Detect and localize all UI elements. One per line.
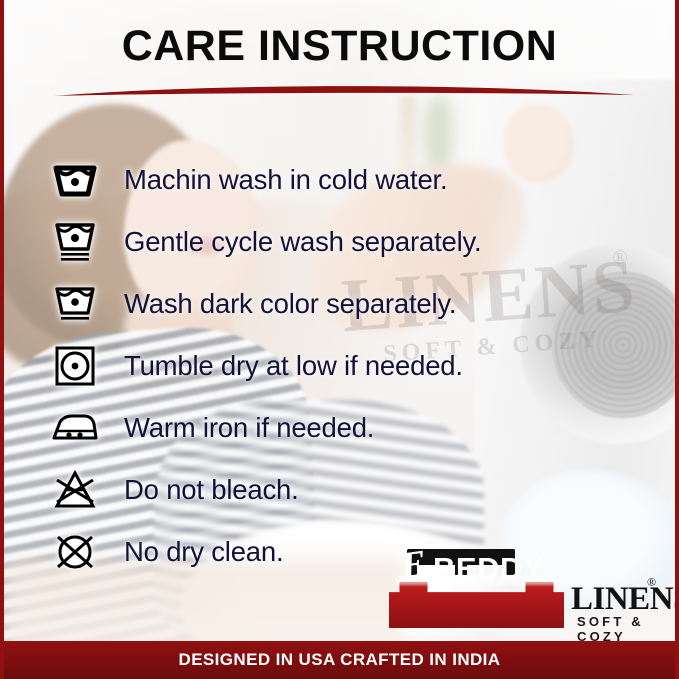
iron-two-dots-icon [46, 402, 104, 454]
instruction-text: Gentle cycle wash separately. [124, 226, 481, 258]
instruction-row: Do not bleach. [46, 460, 646, 520]
instruction-row: Wash dark color separately. [46, 274, 646, 334]
title-divider [54, 82, 634, 100]
instruction-list: Machin wash in cold water. Gentle cycle … [46, 150, 646, 584]
wash-tub-one-dot-two-bars-icon [46, 216, 104, 268]
logo-brand-text: BEDDY [433, 551, 544, 587]
footer-bar: DESIGNED IN USA CRAFTED IN INDIA [4, 641, 675, 679]
care-instruction-card: LINENS SOFT & COZY ® CARE INSTRUCTION Ma… [0, 0, 679, 679]
instruction-text: Do not bleach. [124, 474, 299, 506]
instruction-text: Tumble dry at low if needed. [124, 350, 463, 382]
instruction-row: Tumble dry at low if needed. [46, 336, 646, 396]
beddy-banner [389, 582, 564, 628]
instruction-row: Warm iron if needed. [46, 398, 646, 458]
instruction-row: Machin wash in cold water. [46, 150, 646, 210]
instruction-text: Machin wash in cold water. [124, 164, 447, 196]
page-title: CARE INSTRUCTION [4, 22, 675, 71]
brand-logo: E BEDDY LINENS ® SOFT & COZY [389, 545, 659, 635]
do-not-dry-clean-icon [46, 526, 104, 578]
instruction-row: Gentle cycle wash separately. [46, 212, 646, 272]
logo-name-text: LINENS [571, 581, 679, 618]
wash-tub-one-dot-one-bar-icon [46, 278, 104, 330]
footer-text: DESIGNED IN USA CRAFTED IN INDIA [179, 650, 501, 670]
instruction-text: No dry clean. [124, 536, 283, 568]
logo-tagline: SOFT & COZY [577, 614, 659, 644]
instruction-text: Warm iron if needed. [124, 412, 374, 444]
instruction-text: Wash dark color separately. [124, 288, 456, 320]
do-not-bleach-icon [46, 464, 104, 516]
wash-tub-one-dot-icon [46, 154, 104, 206]
tumble-dry-low-icon [46, 340, 104, 392]
registered-trademark-icon: ® [647, 575, 656, 590]
